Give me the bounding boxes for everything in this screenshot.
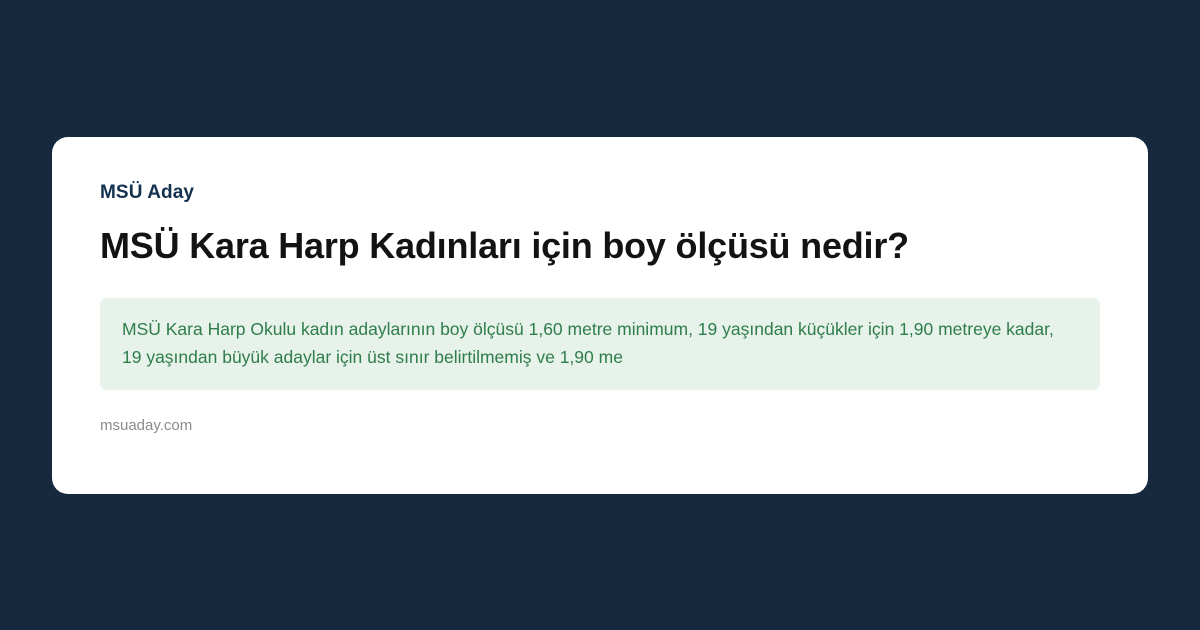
page-title: MSÜ Kara Harp Kadınları için boy ölçüsü … xyxy=(100,224,1100,268)
og-card-canvas: MSÜ Aday MSÜ Kara Harp Kadınları için bo… xyxy=(0,0,1200,630)
source-domain: msuaday.com xyxy=(100,417,1100,435)
answer-snippet-text: MSÜ Kara Harp Okulu kadın adaylarının bo… xyxy=(122,315,1078,372)
site-name: MSÜ Aday xyxy=(100,182,1100,205)
content-card: MSÜ Aday MSÜ Kara Harp Kadınları için bo… xyxy=(52,137,1148,494)
answer-snippet-box: MSÜ Kara Harp Okulu kadın adaylarının bo… xyxy=(100,298,1100,391)
